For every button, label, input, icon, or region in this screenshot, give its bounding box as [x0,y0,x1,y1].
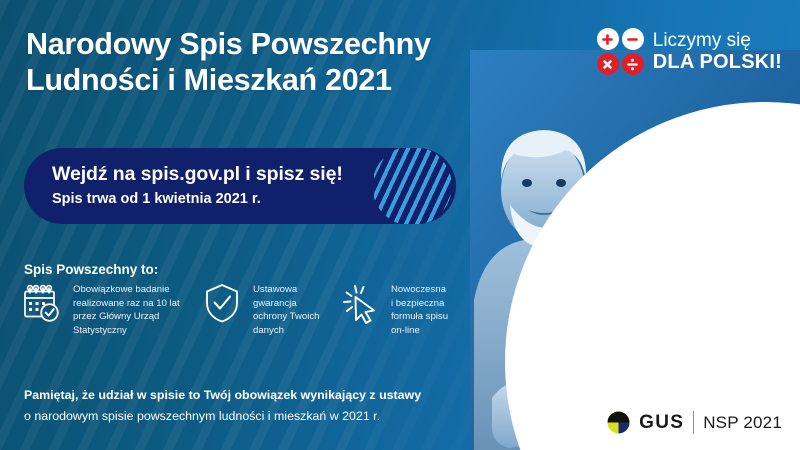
operator-icons-grid [597,28,644,75]
page-title: Narodowy Spis Powszechny Ludności i Mies… [26,27,431,99]
feature-item-data-protection: Ustawowa gwarancja ochrony Twoich danych [200,280,328,337]
feature-item-obligatory: Obowiązkowe badanie realizowane raz na 1… [20,280,190,337]
campaign-slogan-line2: DLA POLSKI! [653,51,782,73]
nsp-campaign-label: NSP 2021 [703,413,782,433]
feature-text: Ustawowa gwarancja ochrony Twoich danych [253,280,319,337]
logo-divider [693,411,694,434]
divide-icon [622,53,644,75]
calendar-check-icon [20,280,64,326]
campaign-slogan: Liczymy się DLA POLSKI! [653,30,782,74]
cursor-click-icon [338,280,382,326]
cta-stripe-circle [374,148,456,224]
footnote-line2: o narodowym spisie powszechnym ludności … [24,409,421,423]
footnote: Pamiętaj, że udział w spisie to Twój obo… [24,388,421,423]
plus-icon [597,28,619,50]
feature-text: Obowiązkowe badanie realizowane raz na 1… [73,280,180,337]
features-heading: Spis Powszechny to: [24,262,158,277]
minus-icon [622,28,644,50]
campaign-logo: Liczymy się DLA POLSKI! [597,28,782,75]
feature-item-online: Nowoczesna i bezpieczna formuła spisu on… [338,280,474,337]
poster-canvas: Narodowy Spis Powszechny Ludności i Mies… [0,0,800,450]
times-icon [597,53,619,75]
cta-banner[interactable]: Wejdź na spis.gov.pl i spisz się! Spis t… [24,148,456,224]
gus-logo: GUS NSP 2021 [607,411,782,434]
feature-text: Nowoczesna i bezpieczna formuła spisu on… [391,280,448,337]
cta-subline: Spis trwa od 1 kwietnia 2021 r. [52,191,343,207]
footnote-line1: Pamiętaj, że udział w spisie to Twój obo… [24,388,421,402]
shield-check-icon [200,280,244,326]
gus-circle-mark-icon [607,411,630,434]
gus-wordmark: GUS [639,412,684,434]
campaign-slogan-line1: Liczymy się [653,30,782,51]
cta-headline: Wejdź na spis.gov.pl i spisz się! [52,163,343,186]
features-list: Obowiązkowe badanie realizowane raz na 1… [20,280,474,337]
cta-text: Wejdź na spis.gov.pl i spisz się! Spis t… [52,163,343,207]
